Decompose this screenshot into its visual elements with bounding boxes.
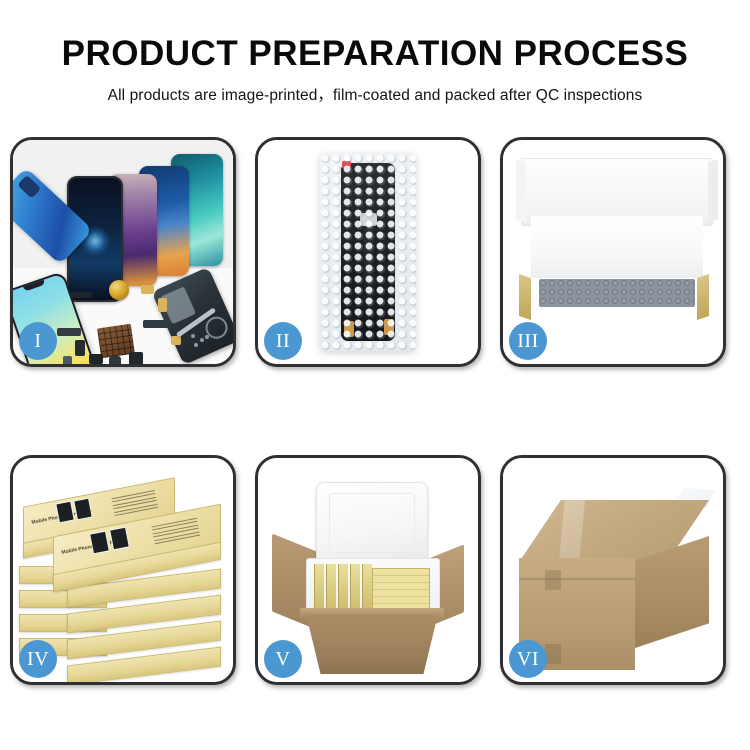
- product-preparation-infographic: PRODUCT PREPARATION PROCESS All products…: [0, 0, 750, 750]
- step-badge-i: I: [19, 322, 57, 360]
- part-gold-c-icon: [171, 336, 181, 345]
- step-badge-iv: IV: [19, 640, 57, 678]
- part-flex-icon: [57, 328, 81, 336]
- step-card-iv[interactable]: Mobile Phone Spare Parts Mobile Phone Sp…: [10, 455, 236, 685]
- part-cable-icon: [143, 320, 169, 328]
- part-speaker-icon: [129, 352, 143, 364]
- step-badge-v: V: [264, 640, 302, 678]
- gray-foam-icon: [539, 279, 695, 307]
- step-card-v[interactable]: V: [255, 455, 481, 685]
- carton-seam: [519, 578, 635, 580]
- step-badge-ii: II: [264, 322, 302, 360]
- header: PRODUCT PREPARATION PROCESS All products…: [0, 0, 750, 105]
- bubble-wrap-texture: [320, 153, 416, 351]
- screws-icon: [191, 334, 211, 348]
- part-gold-a-icon: [141, 285, 154, 294]
- gold-tray-left-edge: [519, 274, 531, 320]
- carton-tab-bottom: [545, 644, 561, 664]
- part-module-icon: [109, 356, 121, 364]
- bubble-wrapped-screen-icon: [320, 153, 416, 351]
- part-button-icon: [75, 340, 85, 356]
- part-strip-icon: [70, 292, 92, 298]
- carton-tab-top: [545, 570, 561, 590]
- white-foam-icon: [531, 216, 703, 278]
- part-sim-tray-icon: [63, 356, 72, 364]
- step-badge-vi: VI: [509, 640, 547, 678]
- steps-grid: I II: [10, 137, 740, 685]
- carton-front: [306, 614, 438, 674]
- speaker-coil-icon: [109, 280, 129, 300]
- page-subtitle: All products are image-printed，film-coat…: [0, 74, 750, 105]
- step-card-iii[interactable]: III: [500, 137, 726, 367]
- gold-boxes-flat: [372, 568, 430, 610]
- step-card-i[interactable]: I: [10, 137, 236, 367]
- part-camera-icon: [89, 354, 103, 364]
- foam-lid-icon: [316, 482, 428, 564]
- step-card-ii[interactable]: II: [255, 137, 481, 367]
- part-gold-b-icon: [158, 298, 167, 312]
- step-card-vi[interactable]: VI: [500, 455, 726, 685]
- page-title: PRODUCT PREPARATION PROCESS: [0, 0, 750, 74]
- step-badge-iii: III: [509, 322, 547, 360]
- gold-tray-right-edge: [697, 274, 709, 320]
- gold-boxes-inside: [314, 564, 430, 610]
